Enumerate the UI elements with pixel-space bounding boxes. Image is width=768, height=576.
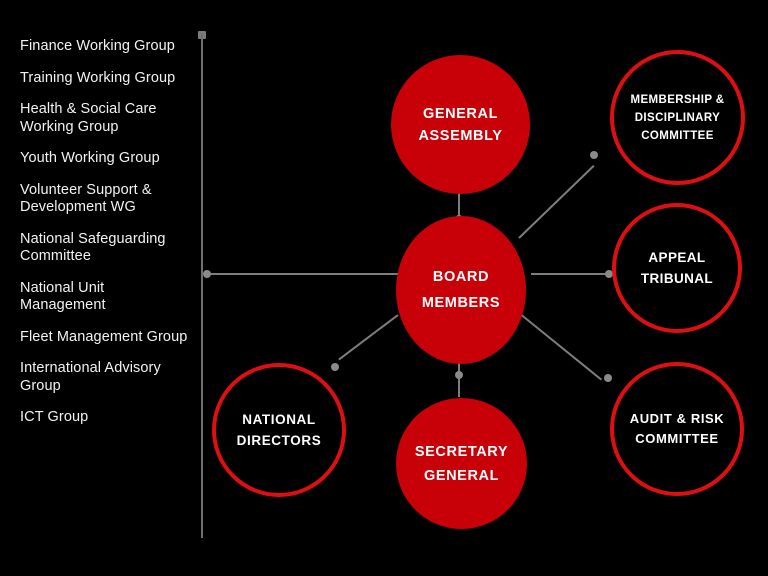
node-secretary-general[interactable]: SECRETARY GENERAL [396,398,527,529]
working-groups-spine-line [201,33,203,538]
node-board-members-label: BOARD MEMBERS [414,264,508,316]
node-label-line: GENERAL [423,106,498,122]
list-item: National Unit Management [20,280,192,315]
node-label-line: APPEAL [648,250,705,265]
connector-spine-to-board [207,273,407,275]
node-label-line: BOARD [433,269,489,285]
node-board-members[interactable]: BOARD MEMBERS [396,216,526,364]
node-label-line: DIRECTORS [237,433,322,448]
list-item: Finance Working Group [20,38,192,56]
connector-dot-audit-risk [604,374,612,382]
node-appeal-tribunal-label: APPEAL TRIBUNAL [633,247,721,289]
connector-board-to-national-directors [338,314,398,360]
node-national-directors-label: NATIONAL DIRECTORS [229,409,330,451]
connector-dot-national-directors [331,363,339,371]
connector-dot-secretary-general [455,371,463,379]
node-label-line: TRIBUNAL [641,271,713,286]
list-item: Fleet Management Group [20,329,192,347]
node-label-line: GENERAL [424,468,499,484]
node-label-line: MEMBERSHIP & [630,94,724,106]
node-label-line: COMMITTEE [641,130,714,142]
connector-board-to-appeal-tribunal [531,273,611,275]
node-label-line: NATIONAL [242,412,316,427]
list-item: Training Working Group [20,70,192,88]
list-item: National Safeguarding Committee [20,231,192,266]
node-membership-disciplinary-label: MEMBERSHIP & DISCIPLINARY COMMITTEE [622,91,732,145]
node-appeal-tribunal[interactable]: APPEAL TRIBUNAL [612,203,742,333]
node-secretary-general-label: SECRETARY GENERAL [407,440,516,488]
node-label-line: AUDIT & RISK [630,411,725,426]
list-item: Health & Social Care Working Group [20,101,192,136]
list-item: International Advisory Group [20,360,192,395]
connector-board-to-membership-disciplinary [518,165,594,239]
list-item: ICT Group [20,409,192,427]
connector-dot-membership-disciplinary [590,151,598,159]
org-chart-canvas: Finance Working Group Training Working G… [0,0,768,576]
connector-board-to-audit-risk [518,312,602,380]
node-audit-risk-label: AUDIT & RISK COMMITTEE [622,409,733,449]
connector-dot-spine [203,270,211,278]
node-label-line: SECRETARY [415,444,508,460]
node-national-directors[interactable]: NATIONAL DIRECTORS [212,363,346,497]
node-label-line: ASSEMBLY [418,128,502,144]
node-label-line: MEMBERS [422,295,500,311]
list-item: Youth Working Group [20,150,192,168]
node-label-line: COMMITTEE [635,431,718,446]
connector-board-to-secretary-general [458,363,460,397]
node-label-line: DISCIPLINARY [635,112,721,124]
node-membership-disciplinary-committee[interactable]: MEMBERSHIP & DISCIPLINARY COMMITTEE [610,50,745,185]
list-item: Volunteer Support & Development WG [20,182,192,217]
node-general-assembly-label: GENERAL ASSEMBLY [410,103,510,147]
node-general-assembly[interactable]: GENERAL ASSEMBLY [391,55,530,194]
node-audit-risk-committee[interactable]: AUDIT & RISK COMMITTEE [610,362,744,496]
working-groups-list: Finance Working Group Training Working G… [20,38,192,441]
